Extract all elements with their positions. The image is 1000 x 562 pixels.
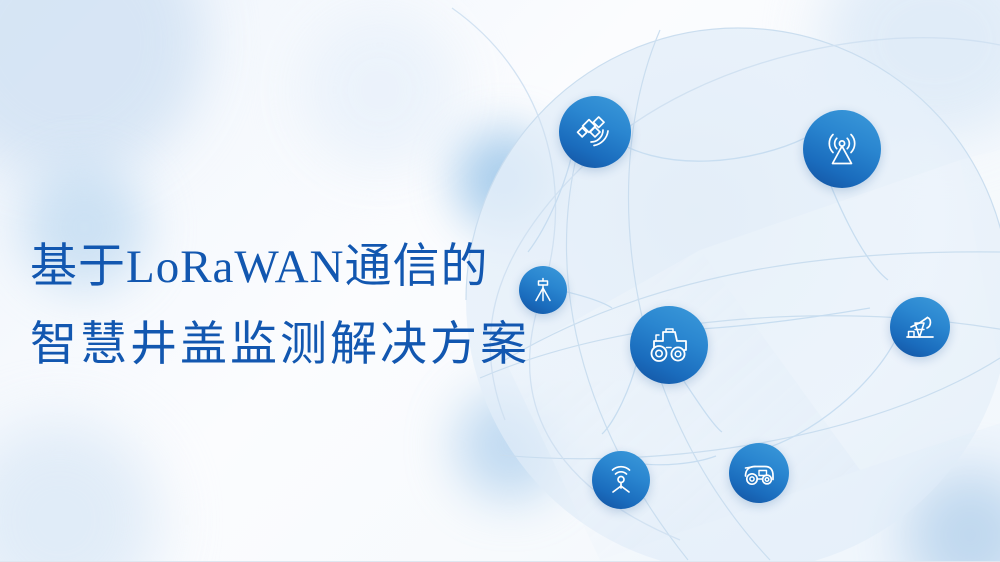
page-title-line-2: 智慧井盖监测解决方案 bbox=[30, 306, 550, 384]
tractor-icon bbox=[646, 322, 692, 368]
node-satellite[interactable] bbox=[559, 96, 631, 168]
node-tractor[interactable] bbox=[630, 306, 708, 384]
title-block: 基于LoRaWAN通信的 智慧井盖监测解决方案 bbox=[30, 228, 550, 384]
broadcast-tower-icon bbox=[820, 127, 864, 171]
node-wireless-sensor[interactable] bbox=[592, 451, 650, 509]
page-title-line-1: 基于LoRaWAN通信的 bbox=[30, 228, 550, 306]
node-oil-pumpjack[interactable] bbox=[890, 297, 950, 357]
node-harvester[interactable] bbox=[729, 443, 789, 503]
wireless-sensor-icon bbox=[604, 463, 638, 497]
presentation-slide: 基于LoRaWAN通信的 智慧井盖监测解决方案 bbox=[0, 0, 1000, 562]
harvester-icon bbox=[741, 455, 777, 491]
satellite-icon bbox=[575, 112, 615, 152]
node-broadcast-tower[interactable] bbox=[803, 110, 881, 188]
oil-pumpjack-icon bbox=[902, 309, 938, 345]
